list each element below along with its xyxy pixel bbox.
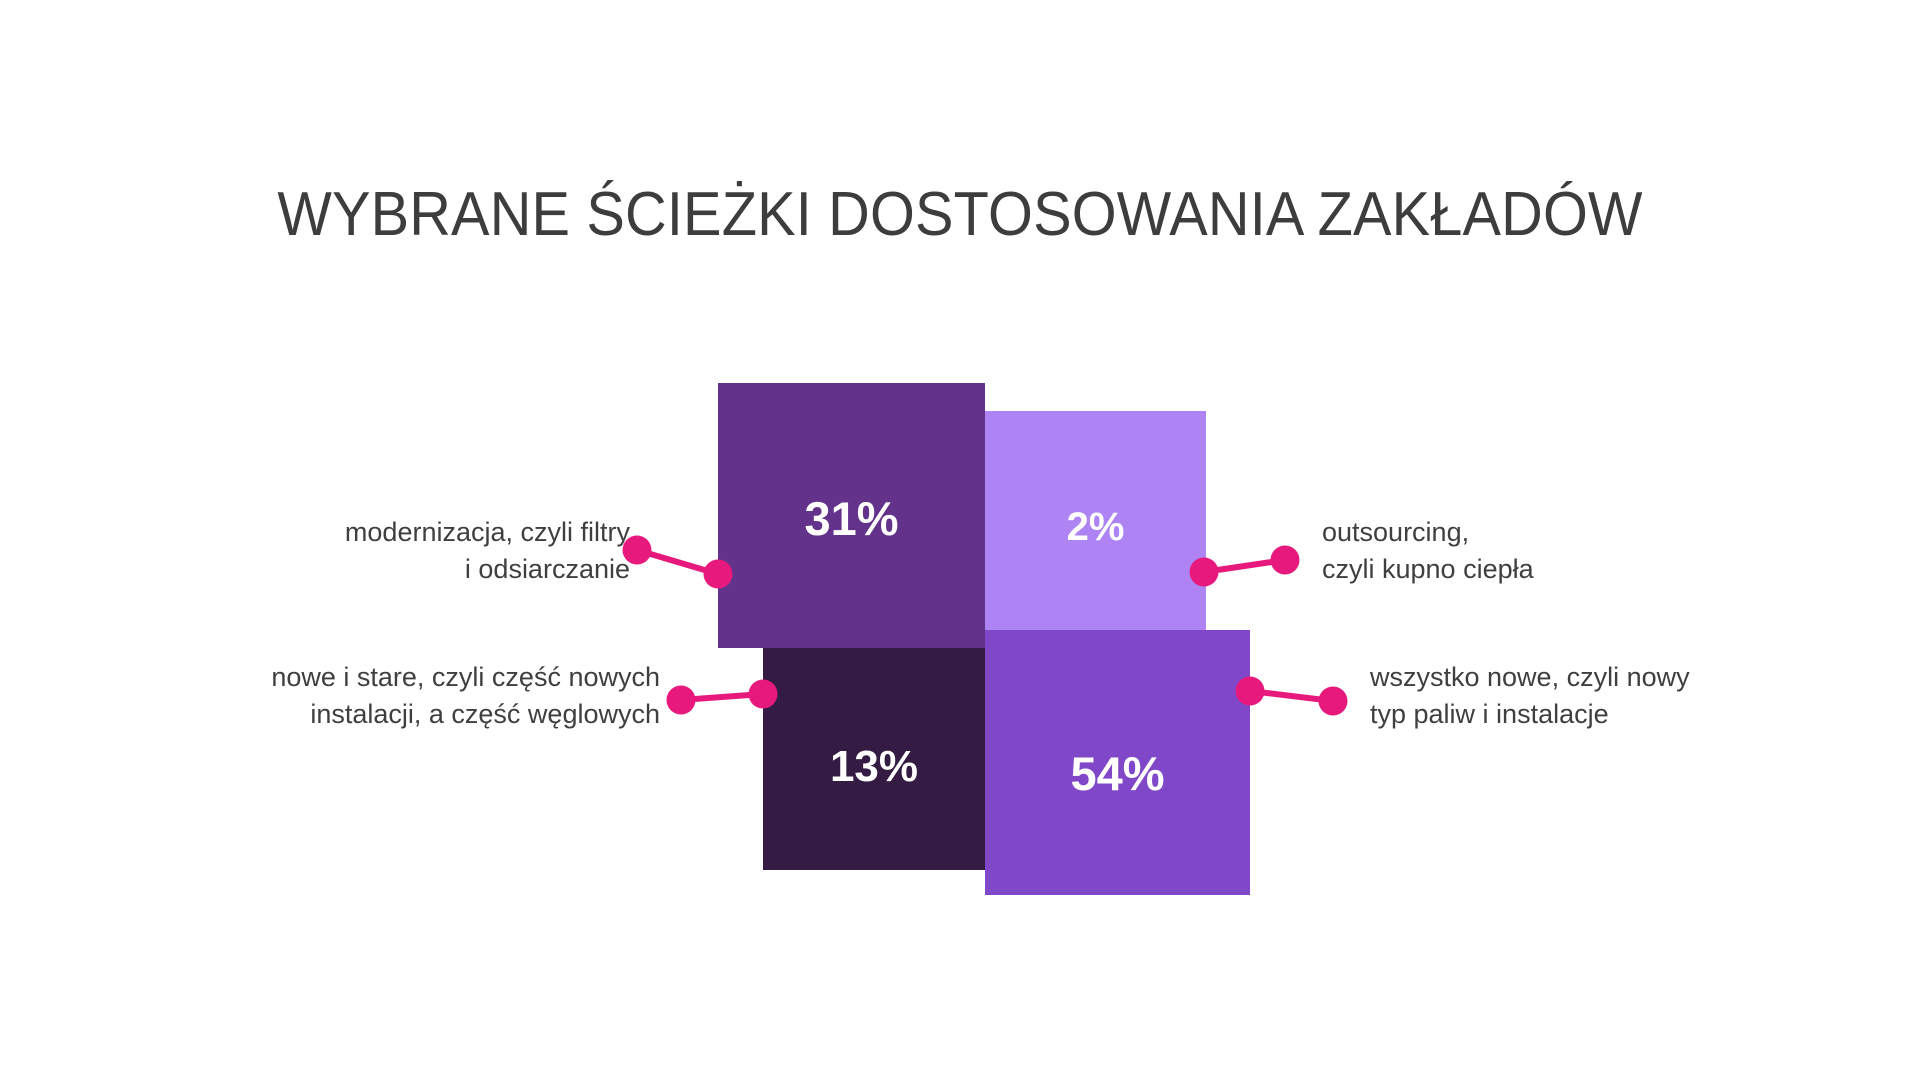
connector-line-outsourcing	[1204, 560, 1285, 572]
connector-dot-outer-outsourcing	[1271, 546, 1300, 575]
connector-outsourcing	[1190, 546, 1300, 587]
connector-modernizacja	[623, 536, 733, 589]
segment-modernizacja[interactable]: 31%	[718, 383, 985, 648]
callout-label-wszystko-nowe: wszystko nowe, czyli nowy typ paliw i in…	[1370, 659, 1840, 734]
callout-label-outsourcing: outsourcing, czyli kupno ciepła	[1322, 514, 1782, 589]
connector-dot-outer-wszystko-nowe	[1319, 687, 1348, 716]
callout-label-nowe-i-stare: nowe i stare, czyli część nowych instala…	[180, 659, 660, 734]
connector-line-nowe-i-stare	[681, 694, 763, 700]
segment-value-nowe-i-stare: 13%	[763, 745, 985, 789]
segment-outsourcing[interactable]: 2%	[985, 411, 1206, 630]
connector-nowe-i-stare	[667, 680, 778, 715]
connector-line-modernizacja	[637, 550, 718, 574]
segment-value-outsourcing: 2%	[985, 507, 1206, 547]
segment-wszystko-nowe[interactable]: 54%	[985, 630, 1250, 895]
connector-line-wszystko-nowe	[1250, 691, 1333, 701]
connector-dot-outer-nowe-i-stare	[667, 686, 696, 715]
connector-wszystko-nowe	[1236, 677, 1348, 716]
segment-value-wszystko-nowe: 54%	[985, 750, 1250, 797]
callout-label-modernizacja: modernizacja, czyli filtry i odsiarczani…	[210, 514, 630, 589]
page-title: WYBRANE ŚCIEŻKI DOSTOSOWANIA ZAKŁADÓW	[67, 179, 1853, 250]
segment-value-modernizacja: 31%	[718, 495, 985, 542]
infographic-slide: WYBRANE ŚCIEŻKI DOSTOSOWANIA ZAKŁADÓW 31…	[0, 0, 1920, 1080]
segment-nowe-i-stare[interactable]: 13%	[763, 648, 985, 870]
